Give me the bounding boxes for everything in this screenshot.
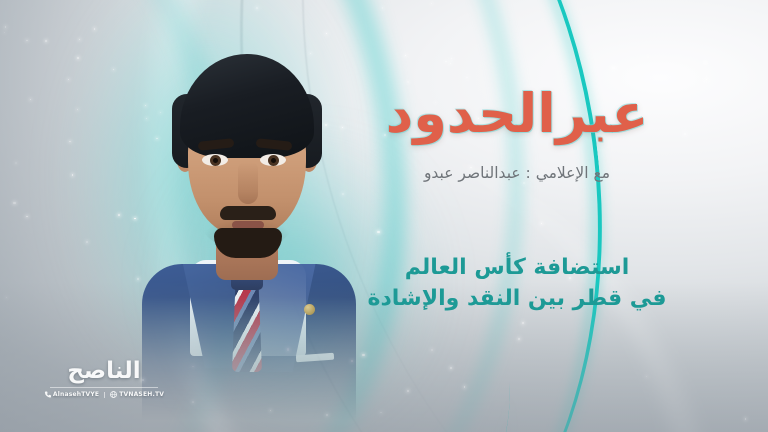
social-handle-1: AlnasehTVYE: [44, 391, 99, 398]
social-handle-2-label: TVNASEH.TV: [119, 391, 164, 398]
channel-logo-wordmark: الناصح: [40, 360, 168, 383]
handle-separator: [104, 392, 105, 398]
title-block: عبرالحدود مع الإعلامي : عبدالناصر عبدو: [302, 86, 732, 183]
presenter-credit: مع الإعلامي : عبدالناصر عبدو: [302, 163, 732, 183]
headline-line-2: في قطر بين النقد والإشادة: [302, 283, 732, 314]
program-title: عبرالحدود: [302, 86, 732, 143]
social-handle-1-label: AlnasehTVYE: [53, 391, 99, 398]
channel-social-handles: AlnasehTVYE TVNASEH.TV: [40, 391, 168, 398]
phone-icon: [44, 391, 51, 398]
social-handle-2: TVNASEH.TV: [110, 391, 164, 398]
title-card: عبرالحدود مع الإعلامي : عبدالناصر عبدو ا…: [0, 0, 768, 432]
globe-icon: [110, 391, 117, 398]
logo-divider: [50, 387, 158, 388]
episode-headline: استضافة كأس العالم في قطر بين النقد والإ…: [302, 252, 732, 314]
channel-logo: الناصح AlnasehTVYE TVNASEH.TV: [40, 360, 168, 398]
headline-line-1: استضافة كأس العالم: [302, 252, 732, 283]
